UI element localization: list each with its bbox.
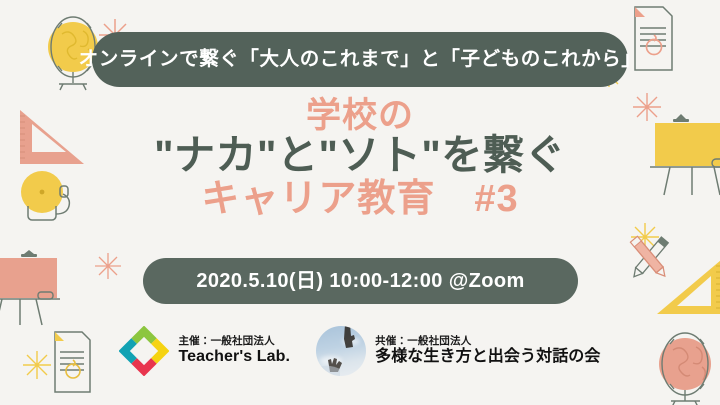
co-organizer-text: 共催：一般社団法人 多様な生き方と出会う対話の会 [375,335,600,366]
organizer-text: 主催：一般社団法人 Teacher's Lab. [178,335,290,366]
teachers-lab-logo-icon [119,326,169,376]
header-banner-pill: オンラインで繋ぐ「大人のこれまで」と「子どものこれから」 [92,32,628,87]
schedule-text: 2020.5.10(日) 10:00-12:00 @Zoom [196,271,524,291]
organizer-block: 主催：一般社団法人 Teacher's Lab. [119,326,290,376]
title-line-2: "ナカ"と"ソト"を繋ぐ [0,133,720,179]
co-organizer-name: 多様な生き方と出会う対話の会 [375,348,600,366]
organizer-kicker: 主催：一般社団法人 [178,335,290,347]
crossed-pencils-icon [618,230,680,286]
co-organizer-block: 共催：一般社団法人 多様な生き方と出会う対話の会 [316,326,600,376]
schedule-pill: 2020.5.10(日) 10:00-12:00 @Zoom [143,258,578,304]
title-line-3: キャリア教育 #3 [0,178,720,221]
page-title: 学校の "ナカ"と"ソト"を繋ぐ キャリア教育 #3 [0,96,720,221]
easel-board-salmon-icon [0,248,66,330]
flyer-canvas: オンラインで繋ぐ「大人のこれまで」と「子どものこれから」 学校の "ナカ"と"ソ… [0,0,720,405]
header-banner-text: オンラインで繋ぐ「大人のこれまで」と「子どものこれから」 [79,50,642,70]
co-organizer-kicker: 共催：一般社団法人 [375,335,600,347]
title-line-1: 学校の [0,96,720,135]
footer: 主催：一般社団法人 Teacher's Lab. 共催：一般社団法人 多 [0,320,720,382]
starburst-salmon-icon [94,252,122,280]
organizer-name: Teacher's Lab. [178,348,290,366]
hands-sky-photo [316,326,366,376]
triangle-ruler-yellow-icon [655,258,720,322]
starburst-yellow-icon [630,222,660,252]
